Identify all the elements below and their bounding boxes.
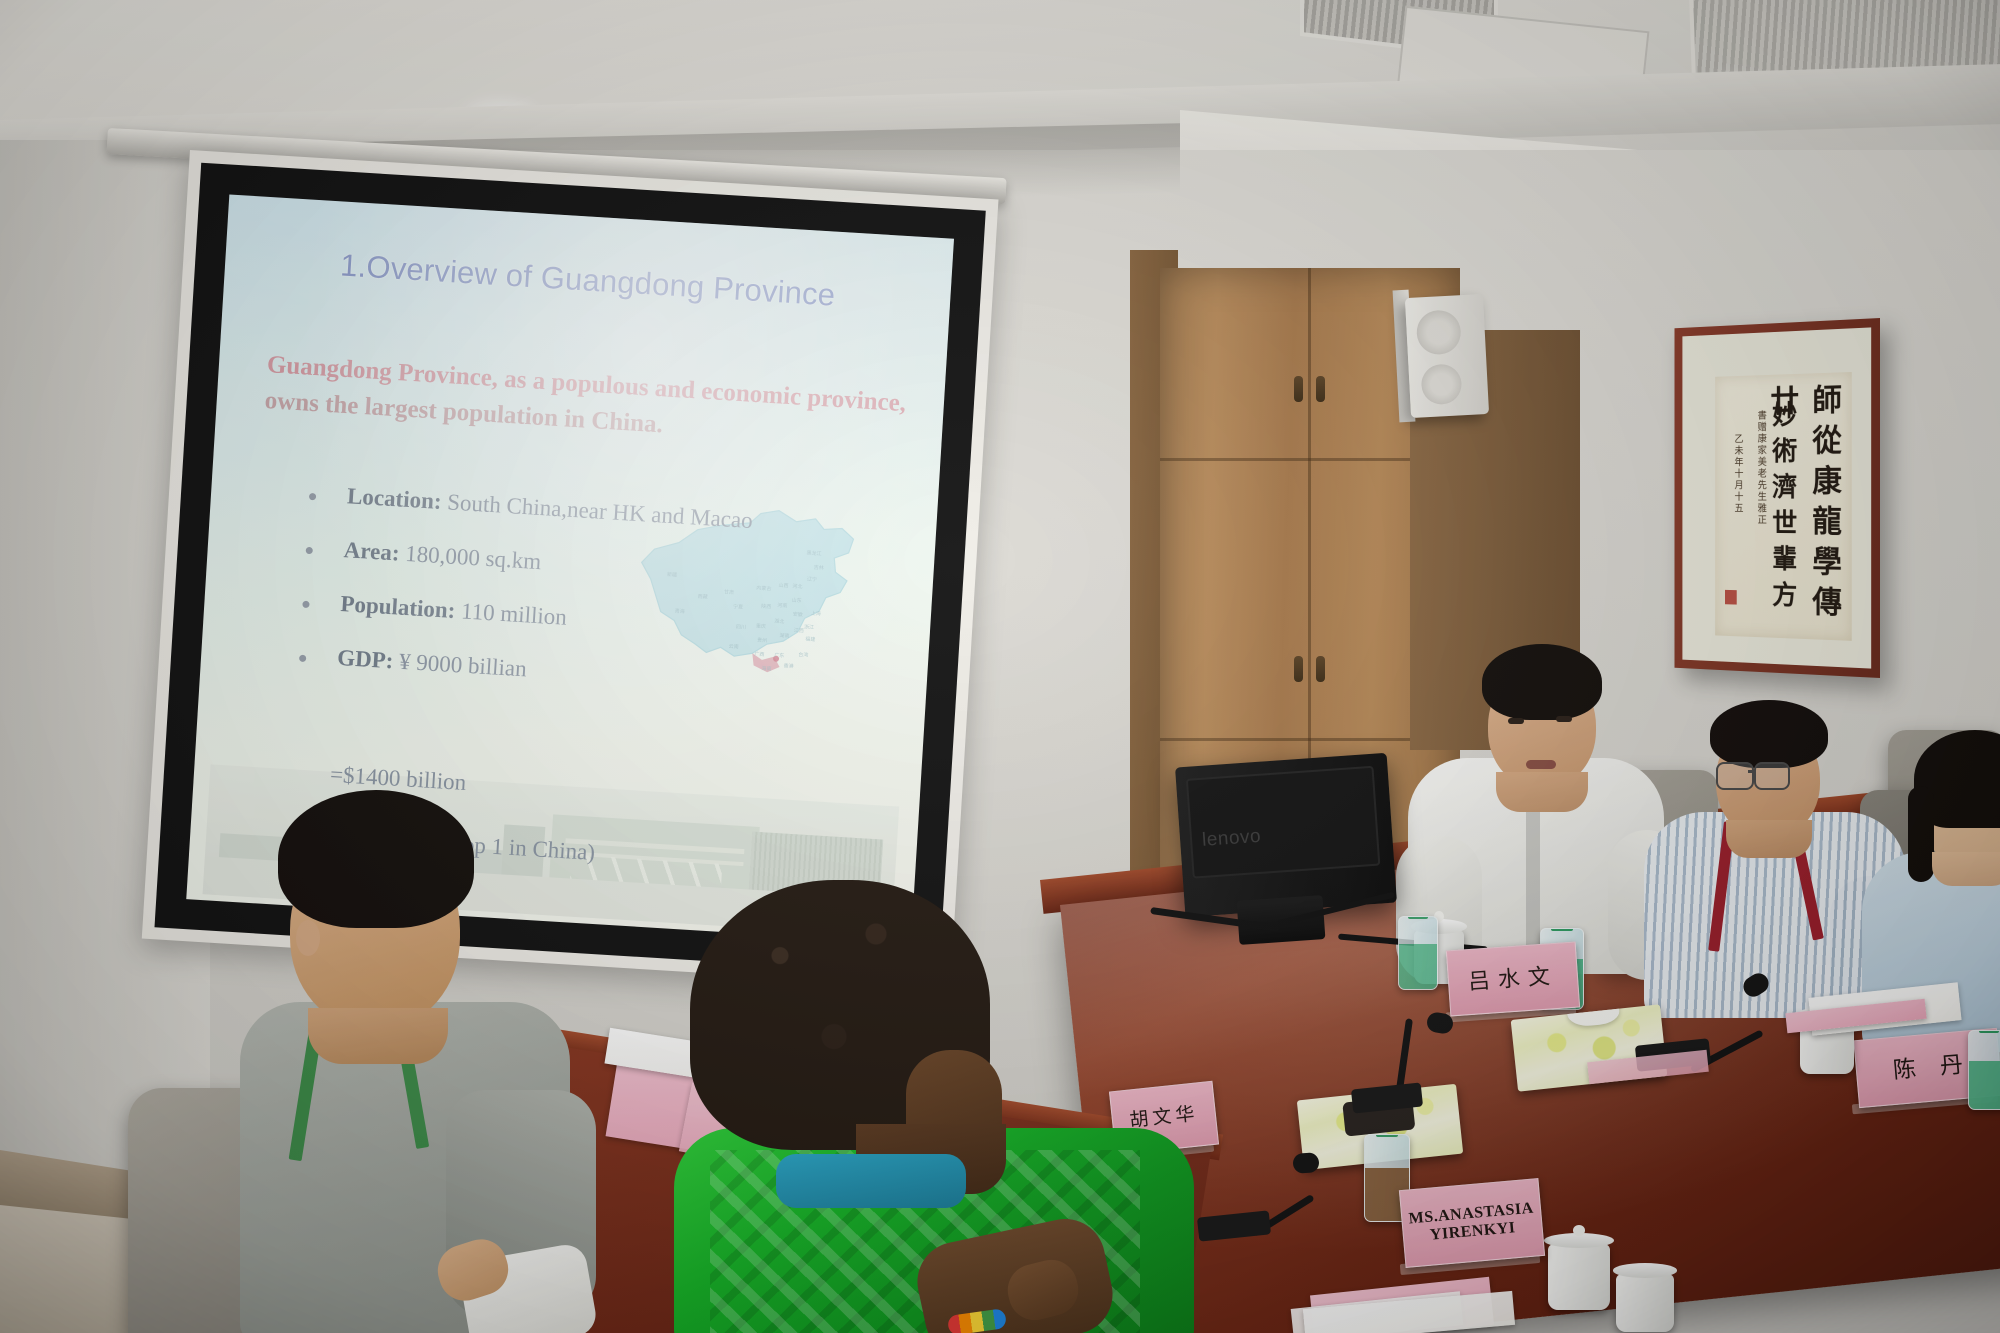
glasses-icon <box>1754 762 1790 790</box>
cabinet-handle[interactable] <box>1294 376 1303 402</box>
water-bottle[interactable] <box>1968 1030 2000 1110</box>
wall-speaker-icon <box>1405 294 1489 418</box>
tea-cup[interactable] <box>1616 1274 1674 1332</box>
red-seal-icon <box>1725 590 1737 605</box>
monitor-back-recess <box>1186 766 1381 879</box>
calligraphy-second-column: 妙術濟世輩方 <box>1765 401 1801 618</box>
list-item: GDP: ¥ 9000 billian <box>281 642 842 702</box>
neck <box>308 1008 448 1064</box>
conference-room-photo: 師從康龍學傳廿 妙術濟世輩方 書赠康家美老先生雅正 乙未年十月十五 新疆西藏青海 <box>0 0 2000 1333</box>
list-item: Population: 110 million <box>284 588 845 648</box>
hair <box>278 790 474 928</box>
calligraphy-signature: 書赠康家美老先生雅正 <box>1755 409 1765 525</box>
eye <box>1556 716 1572 722</box>
eye <box>1508 718 1524 724</box>
bullet-label: Area: <box>343 537 400 565</box>
ear <box>296 920 320 956</box>
cabinet-handle[interactable] <box>1316 656 1325 682</box>
mouth <box>1526 760 1556 769</box>
calligraphy-signature-date: 乙未年十月十五 <box>1730 433 1744 514</box>
bullet-value: 110 million <box>460 598 567 629</box>
bullet-label: Location: <box>346 483 442 514</box>
water-bottle[interactable] <box>1398 916 1438 990</box>
name-plate-lv-shuiwen: 吕水文 <box>1446 942 1580 1017</box>
person-woman-green-dress <box>690 880 1210 1333</box>
bullet-value: ¥ 9000 billian <box>398 649 527 682</box>
list-item: Area: 180,000 sq.km <box>287 534 848 594</box>
hair-strand <box>1908 786 1934 882</box>
calligraphy-paper: 師從康龍學傳廿 妙術濟世輩方 書赠康家美老先生雅正 乙未年十月十五 <box>1715 372 1851 640</box>
bullet-value: 180,000 sq.km <box>405 541 542 574</box>
monitor-brand-logo: lenovo <box>1201 826 1261 852</box>
neck <box>1932 852 2000 886</box>
cabinet-handle[interactable] <box>1294 656 1303 682</box>
picture-mat: 師從康龍學傳廿 妙術濟世輩方 書赠康家美老先生雅正 乙未年十月十五 <box>1682 327 1871 668</box>
bullet-label: Population: <box>340 591 456 623</box>
neck <box>1496 772 1588 812</box>
hair <box>1710 700 1828 768</box>
name-plate-anastasia: MS.ANASTASIA YIRENKYI <box>1399 1178 1545 1268</box>
tea-pot[interactable] <box>1548 1244 1610 1310</box>
neck <box>1726 820 1812 858</box>
glasses-bridge <box>1748 770 1756 773</box>
blue-collar-trim <box>776 1154 966 1208</box>
person-man-grey-shirt <box>250 790 590 1330</box>
person-man-white-shirt <box>1430 640 1680 960</box>
cabinet-handle[interactable] <box>1316 376 1325 402</box>
calligraphy-frame: 師從康龍學傳廿 妙術濟世輩方 書赠康家美老先生雅正 乙未年十月十五 <box>1675 318 1880 678</box>
glasses-icon <box>1716 762 1754 790</box>
hair <box>1482 644 1602 720</box>
slide-title: 1.Overview of Guangdong Province <box>224 240 951 320</box>
slide-lead-paragraph: Guangdong Province, as a populous and ec… <box>264 347 927 458</box>
slide-bullet-list: Location: South China,near HK and Macao … <box>239 477 851 729</box>
bullet-label: GDP: <box>337 645 395 673</box>
